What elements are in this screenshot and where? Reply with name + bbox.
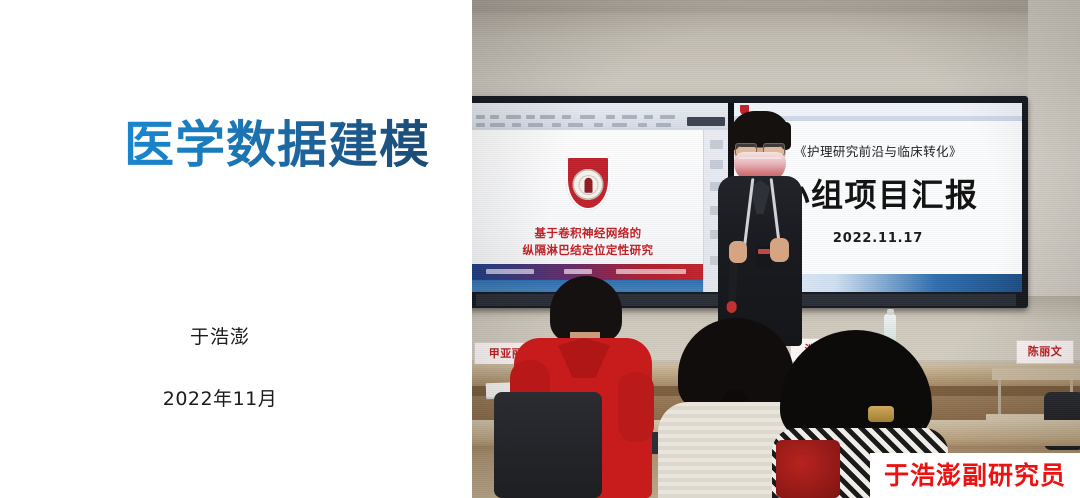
speaker-name-caption: 于浩澎副研究员 xyxy=(870,453,1080,498)
hair-clip xyxy=(868,406,894,422)
room-wall-right xyxy=(1028,0,1080,330)
ppt-title-line1: 基于卷积神经网络的 xyxy=(472,225,704,241)
slide-title: 医学数据建模 xyxy=(124,118,430,173)
speaker-hand-right xyxy=(770,238,789,262)
shield-ring xyxy=(573,169,604,200)
table-leg xyxy=(998,380,1001,414)
speaker-hand-left xyxy=(729,241,747,263)
slide-text-panel: 医学数据建模 于浩澎 2022年11月 xyxy=(0,0,472,498)
ppt-title-line2: 纵隔淋巴结定位定性研究 xyxy=(472,242,704,258)
university-shield-icon xyxy=(566,156,610,210)
left-screen-ppt: 基于卷积神经网络的 纵隔淋巴结定位定性研究 xyxy=(472,103,728,292)
presentation-slide: 医学数据建模 于浩澎 2022年11月 xyxy=(0,0,1080,498)
ppt-slide-canvas: 基于卷积神经网络的 纵隔淋巴结定位定性研究 xyxy=(472,130,704,292)
slide-author: 于浩澎 xyxy=(0,322,440,349)
shield-tower xyxy=(584,177,592,192)
table-surface xyxy=(992,368,1080,380)
classroom-photo: 基于卷积神经网络的 纵隔淋巴结定位定性研究 xyxy=(472,0,1080,498)
chair xyxy=(494,392,602,498)
speaker-person xyxy=(718,116,802,346)
slide-date: 2022年11月 xyxy=(0,384,440,411)
hair xyxy=(780,330,932,440)
editor-toolbar xyxy=(472,103,728,131)
red-bag xyxy=(776,440,840,498)
arm xyxy=(618,372,654,442)
room-wall xyxy=(472,0,1080,110)
